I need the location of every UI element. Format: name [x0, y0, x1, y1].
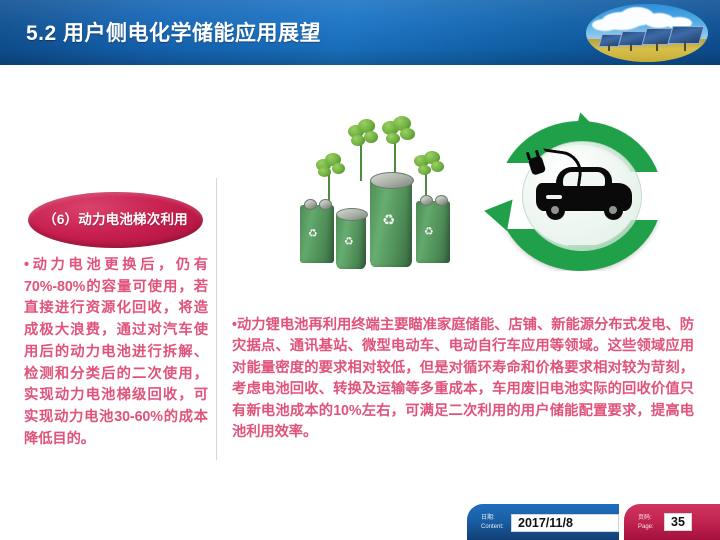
green-batteries-with-plants: ♻ ♻ ♻ ♻ — [294, 113, 479, 288]
column-divider — [216, 178, 217, 460]
page-label-cn: 页码: — [638, 514, 652, 523]
battery-terminal — [435, 195, 448, 206]
slide: 5.2 用户侧电化学储能应用展望 （6）动力电池梯次利用 •动力电池更换 — [0, 0, 720, 540]
date-label-cn: 日期: — [481, 514, 495, 523]
slide-header: 5.2 用户侧电化学储能应用展望 — [0, 0, 720, 65]
leaf-icon — [418, 165, 431, 175]
car-wheel-hub — [551, 206, 559, 214]
car-wheel-hub — [609, 206, 617, 214]
date-value: 2017/11/8 — [511, 514, 619, 532]
solar-panel-icon — [667, 26, 704, 44]
page-title: 5.2 用户侧电化学储能应用展望 — [26, 17, 321, 47]
recycling-arrows-with-electric-car — [480, 105, 680, 290]
leaf-icon — [400, 128, 415, 140]
date-label-en: Content: — [481, 523, 504, 532]
footer-page-block: 页码: Page: 35 — [624, 504, 720, 540]
cloud-icon — [592, 19, 618, 31]
battery-terminal — [420, 195, 433, 206]
solar-panel-photo — [586, 4, 708, 62]
section-badge: （6）动力电池梯次利用 — [28, 192, 203, 248]
slide-body: （6）动力电池梯次利用 •动力电池更换后，仍有70%-80%的容量可使用，若直接… — [0, 65, 720, 495]
left-paragraph: •动力电池更换后，仍有70%-80%的容量可使用，若直接进行资源化回收，将造成极… — [24, 255, 208, 450]
panel-post — [608, 44, 610, 51]
panel-post — [656, 42, 658, 51]
battery-terminal — [319, 199, 332, 210]
panel-post — [684, 41, 686, 51]
page-number: 35 — [664, 513, 692, 531]
recycle-symbol-icon: ♻ — [424, 227, 434, 238]
footer-date-block: 日期: Content: 2017/11/8 — [467, 504, 619, 540]
battery-recycling-illustration: ♻ ♻ ♻ ♻ — [270, 85, 690, 300]
battery-terminal — [304, 199, 317, 210]
recycle-symbol-icon: ♻ — [344, 237, 354, 248]
recycle-symbol-icon: ♻ — [308, 229, 318, 240]
leaf-icon — [386, 133, 400, 144]
section-badge-label: （6）动力电池梯次利用 — [35, 212, 196, 228]
leaf-icon — [318, 167, 331, 177]
battery-top — [370, 172, 414, 189]
recycle-symbol-icon: ♻ — [382, 213, 395, 228]
car-trim — [546, 195, 562, 199]
page-label-en: Page: — [638, 523, 654, 532]
panel-post — [630, 43, 632, 51]
leaf-icon — [364, 131, 378, 143]
leaf-icon — [332, 163, 345, 174]
right-paragraph: •动力锂电池再利用终端主要瞄准家庭储能、店铺、新能源分布式发电、防灾据点、通讯基… — [232, 315, 694, 444]
leaf-icon — [431, 161, 444, 172]
leaf-icon — [351, 135, 365, 146]
recycle-arrow-head — [481, 195, 512, 231]
battery-top — [336, 208, 368, 221]
